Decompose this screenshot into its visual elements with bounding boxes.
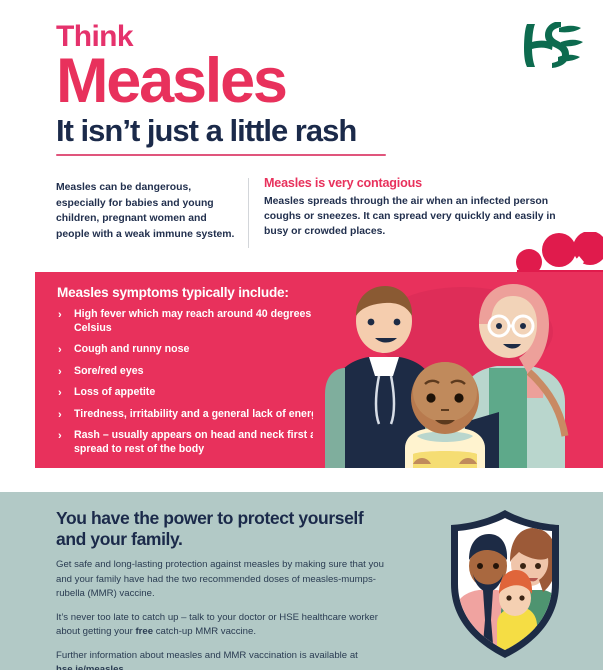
symptom-item: › Sore/red eyes <box>57 365 347 379</box>
masthead-title: Measles <box>56 53 356 111</box>
intro-left-text: Measles can be dangerous, especially for… <box>56 180 236 242</box>
masthead: Think Measles It isn’t just a little ras… <box>56 22 356 148</box>
masthead-underline <box>56 154 386 156</box>
symptom-text: Loss of appetite <box>74 386 155 398</box>
protect-panel: You have the power to protect yourself a… <box>0 492 603 670</box>
protect-p3-part1: Further information about measles and MM… <box>56 650 358 661</box>
intro-divider <box>248 178 249 248</box>
symptom-text: Rash – usually appears on head and neck … <box>74 429 329 455</box>
masthead-subtitle: It isn’t just a little rash <box>56 115 356 148</box>
symptoms-heading: Measles symptoms typically include: <box>57 285 289 300</box>
protect-paragraph-2: It’s never too late to catch up – talk t… <box>56 611 388 640</box>
symptom-item: › Loss of appetite <box>57 386 347 400</box>
chevron-right-icon: › <box>58 408 62 422</box>
symptom-text: Tiredness, irritability and a general la… <box>74 408 323 420</box>
symptom-item: › Rash – usually appears on head and nec… <box>57 429 347 456</box>
symptom-item: › Cough and runny nose <box>57 343 347 357</box>
symptoms-list: › High fever which may reach around 40 d… <box>57 308 347 464</box>
protect-paragraph-3: Further information about measles and MM… <box>56 649 388 670</box>
protect-p2-part2: catch-up MMR vaccine. <box>153 626 256 637</box>
symptoms-panel: Measles symptoms typically include: › Hi… <box>35 272 603 468</box>
chevron-right-icon: › <box>58 308 62 322</box>
protect-body: Get safe and long-lasting protection aga… <box>56 558 388 670</box>
chevron-right-icon: › <box>58 365 62 379</box>
poster-header: Think Measles It isn’t just a little ras… <box>0 0 603 168</box>
symptom-item: › High fever which may reach around 40 d… <box>57 308 347 335</box>
symptom-text: Sore/red eyes <box>74 365 144 377</box>
chevron-right-icon: › <box>58 343 62 357</box>
protect-paragraph-1: Get safe and long-lasting protection aga… <box>56 558 388 602</box>
chevron-right-icon: › <box>58 386 62 400</box>
symptom-text: Cough and runny nose <box>74 343 189 355</box>
contagious-heading: Measles is very contagious <box>264 176 564 191</box>
hse-logo <box>519 18 585 72</box>
protect-p2-bold: free <box>135 626 153 637</box>
symptom-text: High fever which may reach around 40 deg… <box>74 308 311 334</box>
symptom-item: › Tiredness, irritability and a general … <box>57 408 347 422</box>
protect-website-link[interactable]: hse.ie/measles <box>56 664 124 670</box>
protect-heading: You have the power to protect yourself a… <box>56 508 386 551</box>
family-illustration <box>313 272 603 468</box>
intro-right-block: Measles is very contagious Measles sprea… <box>264 176 564 240</box>
chevron-right-icon: › <box>58 429 62 443</box>
shield-family-illustration <box>445 508 565 660</box>
